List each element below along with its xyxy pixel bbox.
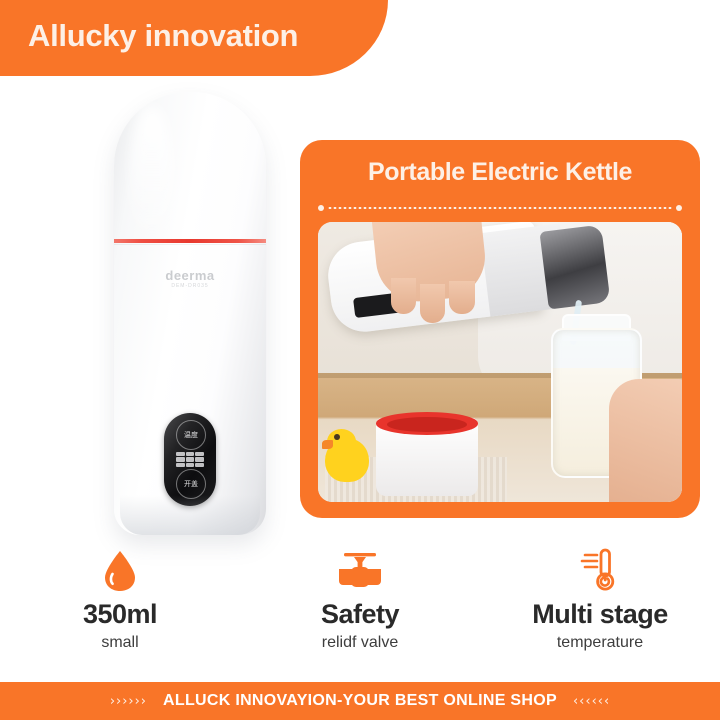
kettle-body: deerma DEM-DR035 温度 开盖: [114, 92, 266, 535]
kettle-brand-logo: deerma DEM-DR035: [114, 268, 266, 289]
feature-title: Safety: [321, 601, 399, 628]
feature-item-temperature: Multi stage temperature: [480, 548, 720, 658]
safety-valve-icon: [335, 548, 385, 592]
product-image: deerma DEM-DR035 温度 开盖: [88, 92, 293, 542]
footer-text: ALLUCK INNOVAYION-YOUR BEST ONLINE SHOP: [163, 692, 557, 710]
photo-finger: [391, 278, 416, 314]
divider-dot-left: [318, 205, 324, 211]
divider-dot-right: [676, 205, 682, 211]
water-drop-icon: [99, 548, 141, 592]
photo-rubber-duck-beak: [322, 440, 333, 448]
chevrons-left-icon: ‹‹‹‹‹‹: [573, 694, 610, 709]
photo-finger: [449, 281, 474, 315]
kettle-highlight: [130, 106, 174, 256]
feature-item-safety: Safety relidf valve: [240, 548, 480, 658]
kettle-seam: [114, 244, 266, 245]
photo-hand-holding-bottle: [609, 379, 682, 502]
photo-kettle-steel-mouth: [539, 224, 610, 309]
kettle-brand-name: deerma: [165, 268, 214, 283]
feature-title: 350ml: [83, 601, 157, 628]
kettle-control-panel[interactable]: 温度 开盖: [164, 413, 216, 506]
kettle-red-ring: [114, 239, 266, 243]
divider-dotted-line: [327, 207, 673, 209]
kettle-display-icon: [176, 452, 204, 467]
thermometer-icon: [577, 548, 623, 592]
feature-list: 350ml small Safety relidf valve: [0, 548, 720, 658]
card-title: Portable Electric Kettle: [300, 158, 700, 187]
photo-finger: [420, 284, 445, 323]
feature-subtitle: relidf valve: [322, 635, 398, 651]
feature-subtitle: small: [101, 635, 138, 651]
brand-title: Allucky innovation: [28, 18, 298, 54]
feature-item-capacity: 350ml small: [0, 548, 240, 658]
feature-title: Multi stage: [532, 601, 668, 628]
temperature-button[interactable]: 温度: [176, 420, 206, 450]
kettle-base-shading: [120, 495, 260, 535]
footer-banner: ›››››› ALLUCK INNOVAYION-YOUR BEST ONLIN…: [0, 682, 720, 720]
photo-cup-inner: [387, 417, 467, 432]
chevrons-right-icon: ››››››: [110, 694, 147, 709]
dotted-divider: [318, 204, 682, 211]
lifestyle-photo: [318, 222, 682, 502]
feature-subtitle: temperature: [557, 635, 643, 651]
feature-card: Portable Electric Kettle: [300, 140, 700, 518]
product-ad-page: Allucky innovation deerma DEM-DR035 温度 开…: [0, 0, 720, 720]
header-banner: Allucky innovation: [0, 0, 388, 76]
kettle-brand-model: DEM-DR035: [114, 283, 266, 289]
